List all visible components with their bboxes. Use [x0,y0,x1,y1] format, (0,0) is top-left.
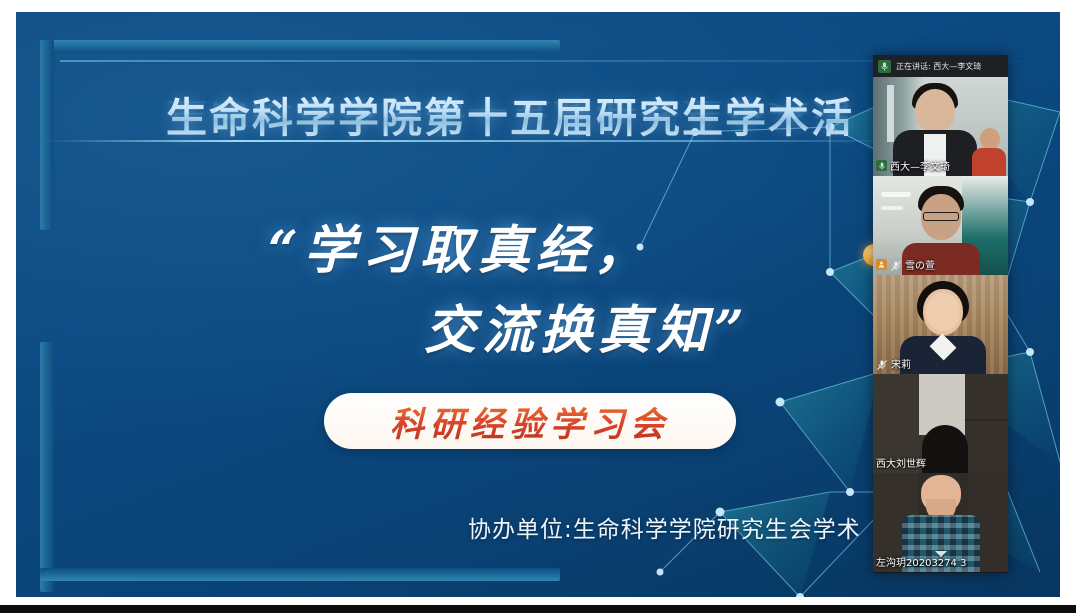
microphone-icon [878,60,891,73]
active-speaker-label: 正在讲话: 西大—李文琦 [896,61,981,72]
event-name-badge: 科研经验学习会 [324,393,736,449]
microphone-icon [876,160,887,171]
slide-quote-line-1: “学习取真经， [268,208,652,283]
organizer-line: 协办单位:生命科学学院研究生会学术 [468,510,908,544]
participant-name-badge: 雪の萱 [876,257,935,272]
participant-name: 西大刘世辉 [876,455,926,470]
video-tile[interactable]: 左沟玥20203274 3 [873,473,1008,572]
video-tile[interactable]: 宋莉 [873,275,1008,374]
participant-name-badge: 西大刘世辉 [876,455,926,470]
video-tile[interactable]: 西大—李文琦 [873,77,1008,176]
microphone-muted-icon [890,259,902,271]
microphone-muted-icon [876,358,888,370]
video-tile[interactable]: 西大刘世辉 [873,374,1008,473]
participant-name-badge: 西大—李文琦 [876,158,950,173]
participant-name: 左沟玥20203274 3 [876,554,966,569]
participant-name: 雪の萱 [905,257,935,272]
participant-name: 西大—李文琦 [890,158,950,173]
page-title: 生命科学学院第十五届研究生学术活 [166,84,946,144]
participant-name: 宋莉 [891,356,911,371]
screen-share-window: 生命科学学院第十五届研究生学术活 生命科学学院第十五届研究生学术活 “学习取真经… [0,0,1076,613]
participant-name-badge: 左沟玥20203274 3 [876,554,966,569]
bottom-edge-band [0,605,1076,613]
participant-name-badge: 宋莉 [876,356,911,371]
active-speaker-bar: 正在讲话: 西大—李文琦 [873,55,1008,77]
event-name-badge-label: 科研经验学习会 [390,397,670,446]
participant-filmstrip[interactable]: 正在讲话: 西大—李文琦 西大—李文琦 [873,55,1008,573]
person-icon [876,259,887,270]
frame-left-lower [40,342,54,592]
slide-quote-line-2: 交流换真知” [424,288,750,363]
frame-left-upper [40,40,54,230]
video-tile[interactable]: 雪の萱 [873,176,1008,275]
frame-bottom-bar [40,568,560,581]
frame-top-bar [40,40,560,53]
chevron-down-icon[interactable] [935,551,947,557]
